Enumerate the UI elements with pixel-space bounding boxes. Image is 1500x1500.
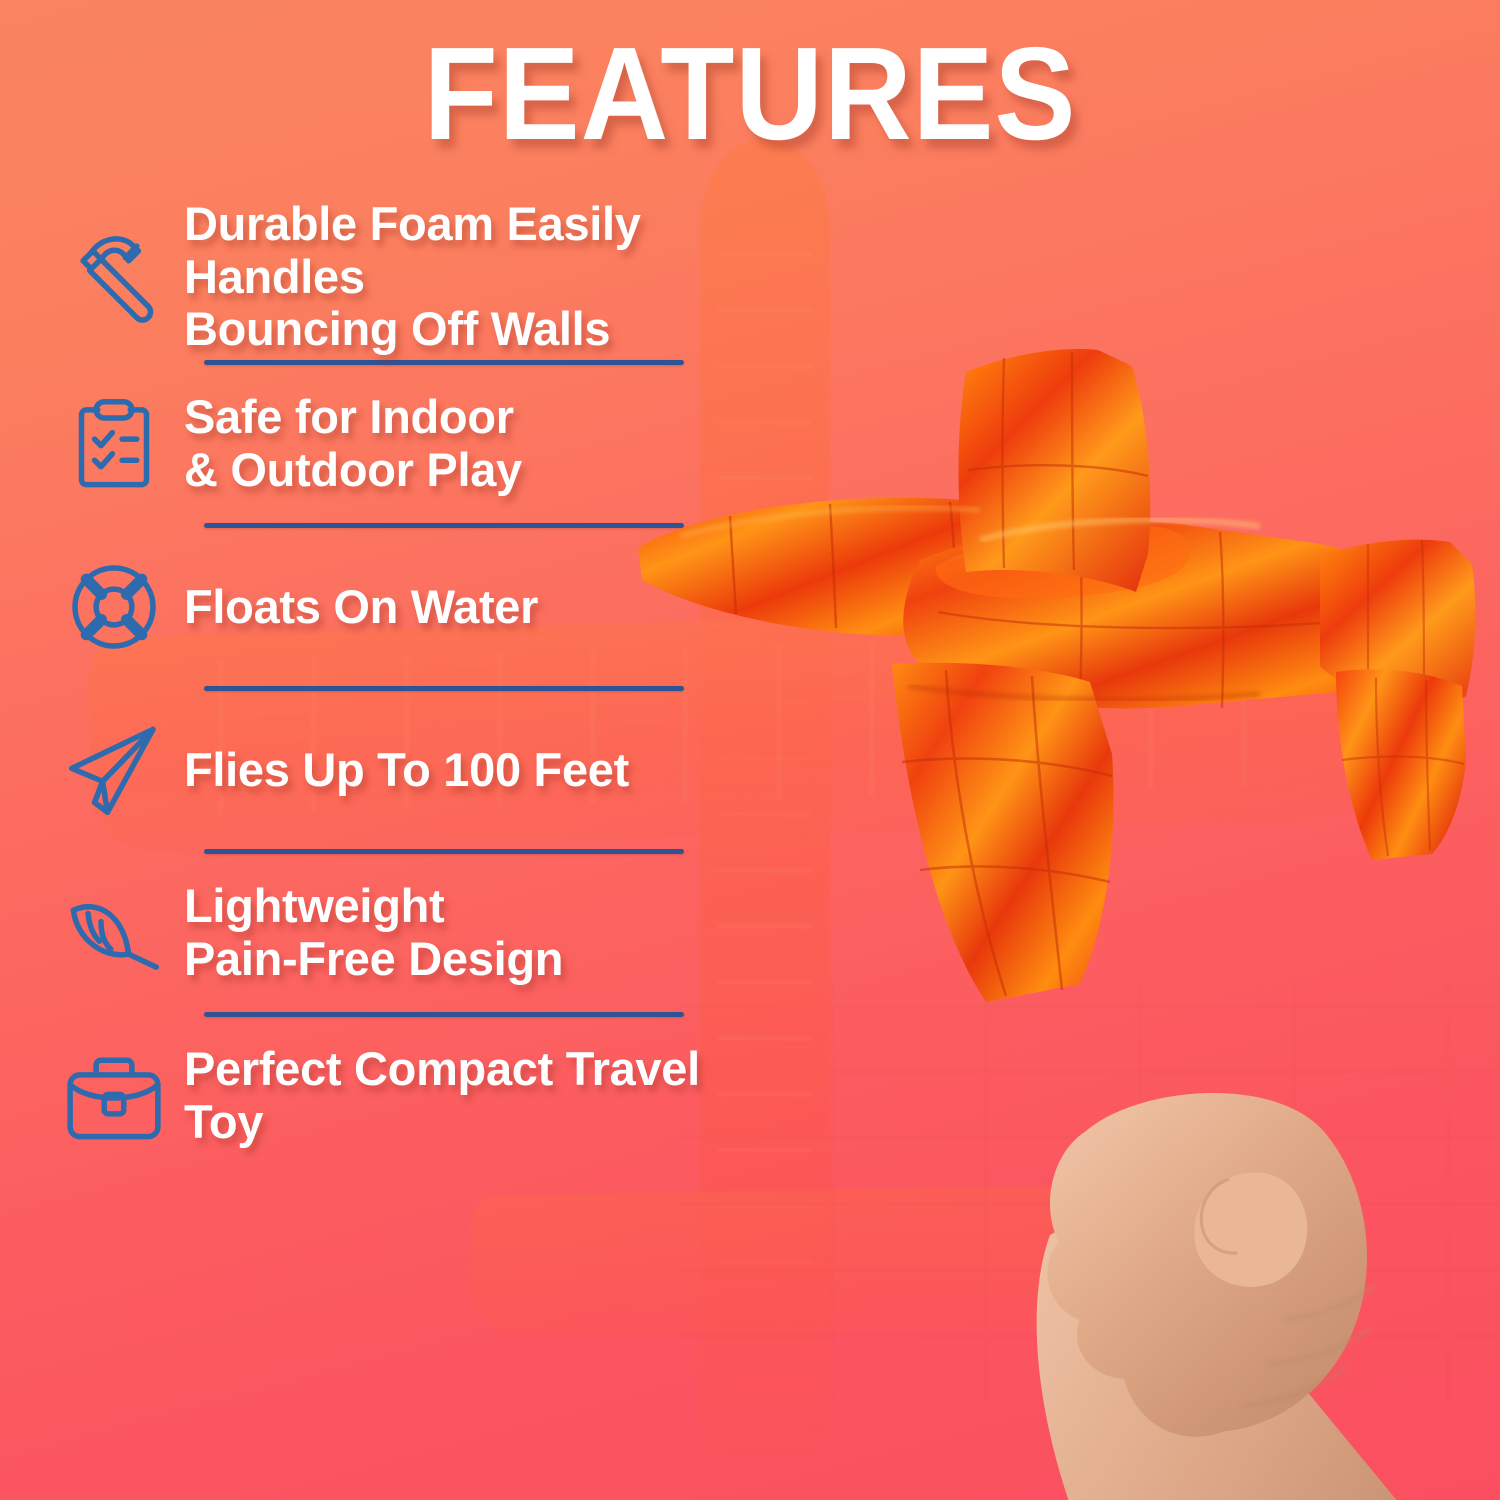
feature-text: Flies Up To 100 Feet (184, 744, 744, 797)
feature-text: Floats On Water (184, 581, 744, 634)
feature-line-1: Lightweight (184, 879, 444, 932)
features-list: Durable Foam Easily Handles Bouncing Off… (44, 198, 744, 1171)
feature-row-floats-on-water: Floats On Water (44, 532, 744, 682)
feature-row-lightweight: Lightweight Pain-Free Design (44, 858, 744, 1008)
feature-line-1: Perfect Compact Travel Toy (184, 1042, 700, 1148)
feature-text: Safe for Indoor & Outdoor Play (184, 391, 744, 496)
feature-line-2: Bouncing Off Walls (184, 303, 744, 356)
feature-line-1: Floats On Water (184, 580, 538, 633)
paper-plane-icon (44, 707, 184, 833)
feature-line-2: & Outdoor Play (184, 444, 744, 497)
feature-row-durable-foam: Durable Foam Easily Handles Bouncing Off… (44, 198, 744, 356)
divider (204, 523, 684, 528)
page-title: FEATURES (60, 28, 1440, 160)
feature-text: Lightweight Pain-Free Design (184, 880, 744, 985)
feature-line-1: Durable Foam Easily Handles (184, 197, 641, 303)
briefcase-icon (44, 1033, 184, 1159)
feature-row-travel-toy: Perfect Compact Travel Toy (44, 1021, 744, 1171)
feature-text: Perfect Compact Travel Toy (184, 1043, 744, 1148)
feature-line-2: Pain-Free Design (184, 933, 744, 986)
features-infographic: FEATURES Durable Foam Easily Handles Bou… (0, 0, 1500, 1500)
divider (204, 849, 684, 854)
feature-text: Durable Foam Easily Handles Bouncing Off… (184, 198, 744, 356)
clipboard-checklist-icon (44, 381, 184, 507)
life-ring-icon (44, 544, 184, 670)
watermark-brick-wall (680, 980, 1500, 1400)
feature-row-flies-100-feet: Flies Up To 100 Feet (44, 695, 744, 845)
feature-line-1: Flies Up To 100 Feet (184, 743, 629, 796)
feature-row-safe-play: Safe for Indoor & Outdoor Play (44, 369, 744, 519)
divider (204, 686, 684, 691)
divider (204, 1012, 684, 1017)
hammer-icon (44, 214, 184, 340)
feature-line-1: Safe for Indoor (184, 390, 514, 443)
feather-icon (44, 870, 184, 996)
watermark-tail-wing (470, 1184, 1170, 1336)
divider (204, 360, 684, 365)
hand-holding-foam-glider-photo (620, 330, 1500, 1500)
